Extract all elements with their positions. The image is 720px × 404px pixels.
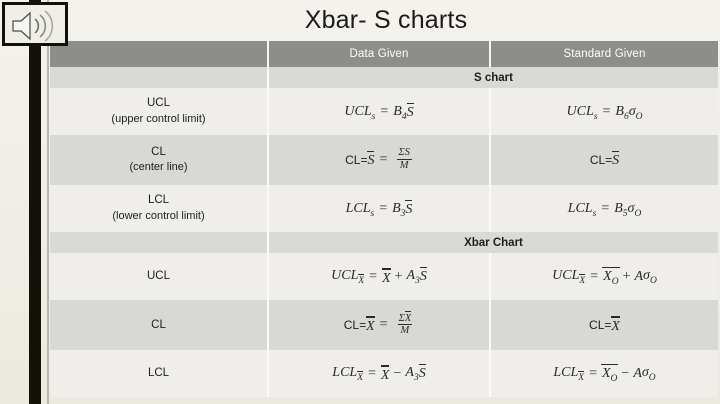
section-s-chart-lead <box>50 67 268 88</box>
table-row: LCL (lower control limit) LCLs= B3S LCLs… <box>50 185 718 232</box>
formula-cl-s-standard-given: CL=S <box>490 135 718 185</box>
table-row: CL CL= X= ΣX M <box>50 300 718 350</box>
formula-lcl-xbar-standard-given: LCLX= XO − AσO <box>490 350 718 397</box>
row-label-text: CL <box>151 319 166 331</box>
section-xbar-chart-label: Xbar Chart <box>268 232 718 253</box>
formula-ucl-s-standard-given: UCLs= B6σO <box>490 88 718 135</box>
formula-cl-xbar-data-given: CL= X= ΣX M <box>268 300 490 350</box>
formula-lcl-s-standard-given: LCLs= B5σO <box>490 185 718 232</box>
left-thin-rule <box>47 0 49 404</box>
formula-ucl-s-data-given: UCLs= B4S <box>268 88 490 135</box>
formula-cl-xbar-standard-given: CL= X <box>490 300 718 350</box>
slide-canvas: Xbar- S charts Data Given Standard Given… <box>0 0 720 404</box>
row-label-text: UCL <box>147 97 170 109</box>
row-label-ucl-s: UCL (upper control limit) <box>50 88 268 135</box>
row-label-text: LCL <box>148 367 169 379</box>
formula-lcl-xbar-data-given: LCLX= X − A3S <box>268 350 490 397</box>
row-label-lcl-s: LCL (lower control limit) <box>50 185 268 232</box>
row-label-cl-s: CL (center line) <box>50 135 268 185</box>
row-label-text: LCL <box>148 194 169 206</box>
table-row: UCL (upper control limit) UCLs= B4S UCLs… <box>50 88 718 135</box>
header-cell-standard-given: Standard Given <box>490 41 718 67</box>
table-header-row: Data Given Standard Given <box>50 41 718 67</box>
header-cell-data-given: Data Given <box>268 41 490 67</box>
speaker-icon[interactable] <box>2 2 68 46</box>
formula-ucl-xbar-data-given: UCLX= X + A3S <box>268 253 490 300</box>
header-cell-blank <box>50 41 268 67</box>
page-title: Xbar- S charts <box>56 1 716 39</box>
table-row: LCL LCLX= X − A3S LCLX= <box>50 350 718 397</box>
row-label-lcl-xbar: LCL <box>50 350 268 397</box>
row-sublabel-text: (center line) <box>54 160 263 176</box>
section-header-xbar-chart: Xbar Chart <box>50 232 718 253</box>
row-sublabel-text: (lower control limit) <box>54 209 263 225</box>
formula-lcl-s-data-given: LCLs= B3S <box>268 185 490 232</box>
row-label-cl-xbar: CL <box>50 300 268 350</box>
formula-cl-s-data-given: CL=S= ΣS M <box>268 135 490 185</box>
row-label-text: UCL <box>147 270 170 282</box>
section-s-chart-label: S chart <box>268 67 718 88</box>
table-row: UCL UCLX= X + A3S UCLX= <box>50 253 718 300</box>
left-accent-bar <box>29 0 41 404</box>
speaker-icon-glyph <box>11 10 63 42</box>
row-label-text: CL <box>151 146 166 158</box>
xbar-s-chart-table: Data Given Standard Given S chart UCL (u… <box>50 41 718 382</box>
formula-ucl-xbar-standard-given: UCLX= XO + AσO <box>490 253 718 300</box>
row-label-ucl-xbar: UCL <box>50 253 268 300</box>
section-xbar-chart-lead <box>50 232 268 253</box>
section-header-s-chart: S chart <box>50 67 718 88</box>
table-row: CL (center line) CL=S= ΣS M <box>50 135 718 185</box>
row-sublabel-text: (upper control limit) <box>54 112 263 128</box>
